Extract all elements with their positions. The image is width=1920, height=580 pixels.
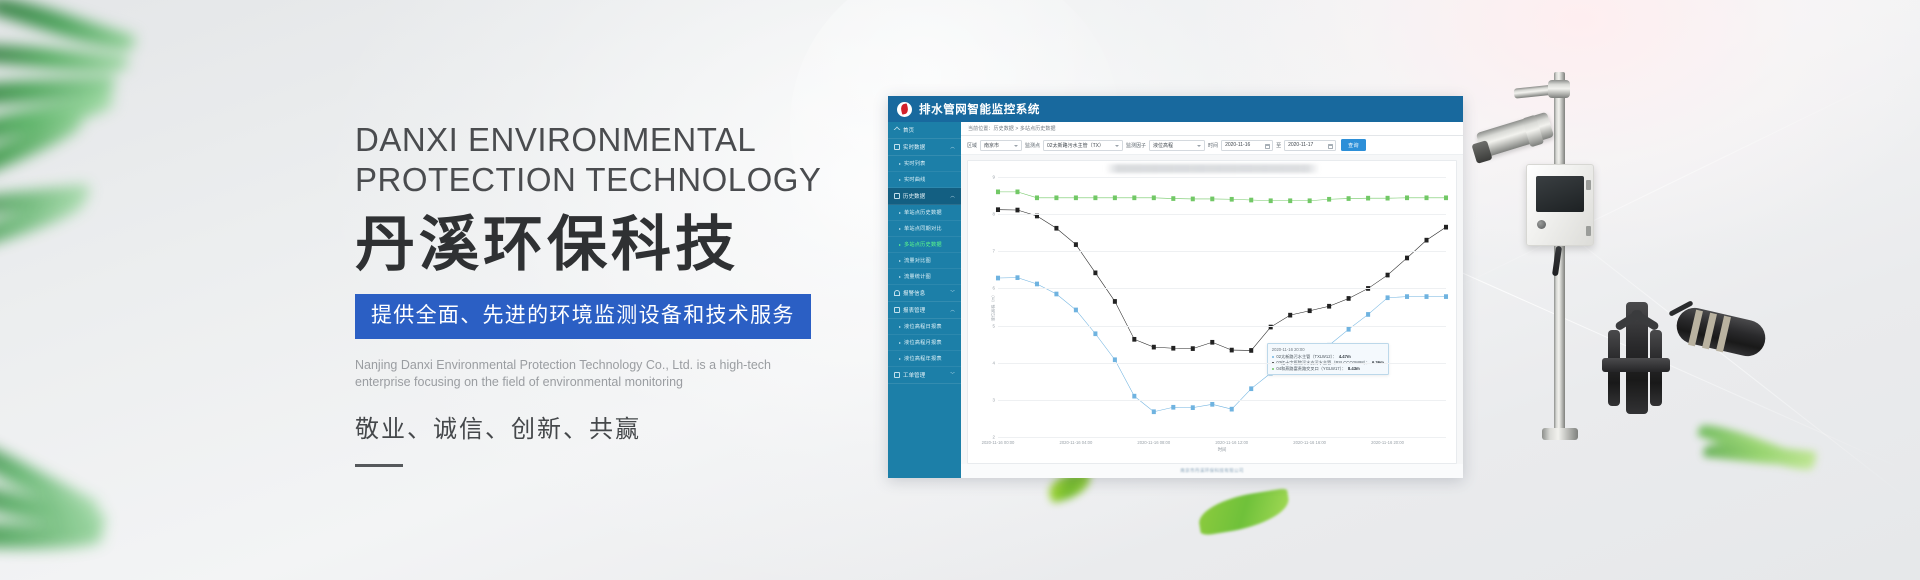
main-content: 当前位置：历史数据 > 多站点历史数据 区域 南京市 监测点 02太新路污水主管… xyxy=(961,122,1463,478)
chart-data-point xyxy=(1249,198,1253,203)
sidebar-item-realtime-list[interactable]: 实时列表 xyxy=(888,156,961,172)
chart-gridline xyxy=(998,400,1446,401)
app-body: 首页 实时数据 ︿ 实时列表 实时曲线 历史数据 xyxy=(888,122,1463,478)
chart-data-point xyxy=(1132,337,1136,342)
region-label: 区域 xyxy=(967,142,977,149)
chart-gridline xyxy=(998,288,1446,289)
chart-data-point xyxy=(1074,308,1078,313)
chevron-up-icon: ︿ xyxy=(950,307,955,313)
filter-toolbar: 区域 南京市 监测点 02太新路污水主管（TX） 监测因子 液位高程 时间 20… xyxy=(961,136,1463,155)
chart-data-point xyxy=(1113,195,1117,200)
sidebar-item-label: 多站点历史数据 xyxy=(904,241,942,248)
chart-data-point xyxy=(1171,346,1175,351)
chart-data-point xyxy=(1210,197,1214,202)
decor-leaf-cluster xyxy=(0,180,170,380)
chart-data-point xyxy=(996,207,1000,212)
chart-data-point xyxy=(1015,275,1019,280)
chart-gridline xyxy=(998,437,1446,438)
chart-data-point xyxy=(1327,197,1331,202)
chart-data-point xyxy=(1191,405,1195,410)
date-end-input[interactable]: 2020-11-17 xyxy=(1284,140,1336,151)
date-end-value: 2020-11-17 xyxy=(1288,142,1313,148)
chevron-up-icon: ︿ xyxy=(950,193,955,199)
chart-series-line xyxy=(998,192,1446,201)
sidebar-item-label: 液位高程月报表 xyxy=(904,339,942,346)
chart-data-point xyxy=(1152,345,1156,350)
chart-y-tick: 4 xyxy=(993,360,995,365)
chart-card: 液位高程（m） 时间 2020-11-16 20:00 02太新路污水主管（TX… xyxy=(967,160,1457,464)
series-color-dot xyxy=(1272,368,1275,371)
query-button[interactable]: 查询 xyxy=(1341,139,1366,151)
chart-data-point xyxy=(1074,242,1078,247)
chart-data-point xyxy=(1171,196,1175,201)
chart-gridline xyxy=(998,214,1446,215)
chart-data-point xyxy=(1152,409,1156,414)
chart-data-point xyxy=(1366,196,1370,201)
sidebar-item-label: 实时曲线 xyxy=(904,176,926,183)
chart-y-tick: 3 xyxy=(993,397,995,402)
chart-data-point xyxy=(1015,190,1019,195)
sidebar-item-work-order[interactable]: 工单管理 ﹀ xyxy=(888,367,961,384)
app-footer: 南京市丹溪环保科技有限公司 xyxy=(961,464,1463,478)
chart-data-point xyxy=(1035,195,1039,200)
chart-data-point xyxy=(1366,312,1370,317)
sidebar-item-label: 实时列表 xyxy=(904,160,926,167)
hero-chinese-title: 丹溪环保科技 xyxy=(355,210,875,280)
tooltip-row: 04和燕路富贵路交叉口（YGLW17）： 8.43m xyxy=(1272,366,1384,372)
sidebar-item-report-management[interactable]: 报表管理 ︿ xyxy=(888,302,961,319)
chart-data-point xyxy=(1093,270,1097,275)
chart-data-point xyxy=(1113,357,1117,362)
chart-data-point xyxy=(1191,346,1195,351)
hero-banner: DANXI ENVIRONMENTAL PROTECTION TECHNOLOG… xyxy=(0,0,1920,580)
flow-sensor-collar-icon xyxy=(1602,358,1670,372)
arm-clamp-icon xyxy=(1548,80,1570,98)
breadcrumb: 当前位置：历史数据 > 多站点历史数据 xyxy=(961,122,1463,136)
sidebar-nav: 首页 实时数据 ︿ 实时列表 实时曲线 历史数据 xyxy=(888,122,961,478)
caret-right-icon xyxy=(899,228,901,230)
sidebar-item-single-station-history[interactable]: 单站点历史数据 xyxy=(888,205,961,221)
calendar-icon xyxy=(1265,144,1270,149)
caret-right-icon xyxy=(899,244,901,246)
realtime-icon xyxy=(894,144,900,150)
sidebar-item-label: 报警信息 xyxy=(903,289,925,297)
sidebar-item-multi-station-history[interactable]: 多站点历史数据 xyxy=(888,237,961,253)
sidebar-item-label: 液位高程日报表 xyxy=(904,323,942,330)
chart-data-point xyxy=(1230,197,1234,202)
chart-data-point xyxy=(1210,340,1214,345)
pole-base-icon xyxy=(1542,428,1578,440)
chart-data-point xyxy=(1093,195,1097,200)
app-title: 排水管网智能监控系统 xyxy=(919,101,1040,117)
chart-data-point xyxy=(1444,294,1448,299)
chart-data-point xyxy=(1347,327,1351,332)
calendar-icon xyxy=(1328,144,1333,149)
chart-x-tick: 2020-11-16 20:00 xyxy=(1371,440,1404,445)
chart-gridline xyxy=(998,251,1446,252)
chart-data-point xyxy=(1054,195,1058,200)
chart-y-tick: 7 xyxy=(993,249,995,254)
equipment-illustration xyxy=(1480,30,1920,490)
factor-select[interactable]: 液位高程 xyxy=(1149,140,1205,151)
chart-data-point xyxy=(1249,348,1253,353)
chart-y-tick: 8 xyxy=(993,212,995,217)
sidebar-item-label: 报表管理 xyxy=(903,306,925,314)
chart-data-point xyxy=(1327,304,1331,309)
sidebar-item-label: 液位高程年报表 xyxy=(904,355,942,362)
chart-data-point xyxy=(1191,197,1195,202)
report-icon xyxy=(894,307,900,313)
cabinet-knob-icon xyxy=(1537,220,1546,229)
chart-data-point xyxy=(1132,394,1136,399)
tooltip-time: 2020-11-16 20:00 xyxy=(1272,347,1384,353)
chart-data-point xyxy=(1210,402,1214,407)
chart-y-axis-label: 液位高程（m） xyxy=(990,293,996,322)
date-start-value: 2020-11-16 xyxy=(1225,142,1250,148)
chart-data-point xyxy=(1424,195,1428,200)
chart-data-point xyxy=(1347,296,1351,301)
chart-data-point xyxy=(1249,386,1253,391)
chart-data-point xyxy=(1230,407,1234,412)
date-start-input[interactable]: 2020-11-16 xyxy=(1221,140,1273,151)
region-select[interactable]: 南京市 xyxy=(980,140,1022,151)
monitoring-system-window: 排水管网智能监控系统 首页 实时数据 ︿ 实时列表 xyxy=(888,96,1463,478)
bell-icon xyxy=(894,290,900,296)
app-titlebar: 排水管网智能监控系统 xyxy=(888,96,1463,122)
chart-data-point xyxy=(1269,198,1273,203)
cabinet-latch-icon xyxy=(1586,226,1591,236)
hero-divider xyxy=(355,464,403,467)
sidebar-item-label: 单站点同期对比 xyxy=(904,225,942,232)
chart-data-point xyxy=(1132,195,1136,200)
chart-data-point xyxy=(1444,225,1448,230)
chart-data-point xyxy=(1035,282,1039,287)
chart-data-point xyxy=(1405,294,1409,299)
hero-copy: DANXI ENVIRONMENTAL PROTECTION TECHNOLOG… xyxy=(355,120,875,467)
sidebar-item-label: 流量对比图 xyxy=(904,257,931,264)
chart-data-point xyxy=(1347,196,1351,201)
chart-data-point xyxy=(1152,195,1156,200)
chart-x-tick: 2020-11-16 08:00 xyxy=(1137,440,1170,445)
chart-y-tick: 2 xyxy=(993,435,995,440)
chevron-up-icon: ︿ xyxy=(950,144,955,150)
hero-english-title: DANXI ENVIRONMENTAL PROTECTION TECHNOLOG… xyxy=(355,120,875,200)
station-label: 监测点 xyxy=(1025,142,1040,149)
sidebar-item-realtime-curve[interactable]: 实时曲线 xyxy=(888,172,961,188)
caret-right-icon xyxy=(899,276,901,278)
decor-leaf-cluster xyxy=(0,0,250,240)
chevron-down-icon: ﹀ xyxy=(950,290,955,296)
chart-tooltip: 2020-11-16 20:00 02太新路污水主管（TXLW12）： 4.47… xyxy=(1267,343,1389,375)
sidebar-item-label: 流量统计图 xyxy=(904,273,931,280)
chart-data-point xyxy=(1386,273,1390,278)
sidebar-item-level-daily-report[interactable]: 液位高程日报表 xyxy=(888,319,961,335)
sidebar-item-label: 首页 xyxy=(903,126,914,134)
chart-data-point xyxy=(1386,196,1390,201)
chart-data-point xyxy=(1054,292,1058,297)
chart-gridline xyxy=(998,326,1446,327)
caret-right-icon xyxy=(899,358,901,360)
chart-data-point xyxy=(1230,348,1234,353)
chart-data-point xyxy=(1405,195,1409,200)
chart-icon xyxy=(894,193,900,199)
chart-x-axis-label: 时间 xyxy=(1218,447,1227,453)
caret-right-icon xyxy=(899,326,901,328)
chevron-down-icon: ﹀ xyxy=(950,372,955,378)
chart-data-point xyxy=(1015,208,1019,213)
sidebar-item-alarm-info[interactable]: 报警信息 ﹀ xyxy=(888,285,961,302)
chart-y-tick: 9 xyxy=(993,175,995,180)
time-label: 时间 xyxy=(1208,142,1218,149)
chart-y-tick: 6 xyxy=(993,286,995,291)
caret-right-icon xyxy=(899,342,901,344)
caret-right-icon xyxy=(899,179,901,181)
sidebar-item-home[interactable]: 首页 xyxy=(888,122,961,139)
date-separator: 至 xyxy=(1276,142,1281,149)
chart-title-blurred xyxy=(1105,164,1320,173)
chart-data-point xyxy=(1074,195,1078,200)
chart-data-point xyxy=(1093,331,1097,336)
sidebar-item-single-station-compare[interactable]: 单站点同期对比 xyxy=(888,221,961,237)
chart-data-point xyxy=(1054,226,1058,231)
chart-data-point xyxy=(1308,198,1312,203)
chart-data-point xyxy=(1171,405,1175,410)
chart-data-point xyxy=(1405,256,1409,261)
chart-data-point xyxy=(1424,294,1428,299)
chart-x-tick: 2020-11-16 12:00 xyxy=(1215,440,1248,445)
caret-right-icon xyxy=(899,260,901,262)
chart-gridline xyxy=(998,363,1446,364)
sidebar-item-label: 单站点历史数据 xyxy=(904,209,942,216)
chart-data-point xyxy=(1386,295,1390,300)
chart-data-point xyxy=(1288,313,1292,318)
app-logo-icon xyxy=(897,102,912,117)
sidebar-item-history-data[interactable]: 历史数据 ︿ xyxy=(888,188,961,205)
ticket-icon xyxy=(894,372,900,378)
chart-data-point xyxy=(1288,198,1292,203)
chart-data-point xyxy=(1113,299,1117,304)
chart-data-point xyxy=(1424,238,1428,243)
chart-series-svg xyxy=(998,177,1446,437)
chart-x-tick: 2020-11-16 04:00 xyxy=(1060,440,1093,445)
tooltip-series-name: 04和燕路富贵路交叉口（YGLW17）： xyxy=(1276,366,1346,372)
sidebar-item-label: 实时数据 xyxy=(903,143,925,151)
caret-right-icon xyxy=(899,163,901,165)
chart-data-point xyxy=(1444,195,1448,200)
sidebar-item-flow-statistics-chart[interactable]: 流量统计图 xyxy=(888,269,961,285)
sidebar-item-realtime-data[interactable]: 实时数据 ︿ xyxy=(888,139,961,156)
chart-x-tick: 2020-11-16 00:00 xyxy=(982,440,1015,445)
cabinet-display-icon xyxy=(1536,176,1584,212)
chart-data-point xyxy=(996,190,1000,195)
chart-series-line xyxy=(998,210,1446,351)
footer-company-name: 南京市丹溪环保科技有限公司 xyxy=(1180,468,1244,474)
cabinet-latch-icon xyxy=(1586,180,1591,190)
home-icon xyxy=(894,127,901,134)
chart-x-tick: 2020-11-16 16:00 xyxy=(1293,440,1326,445)
chart-data-point xyxy=(1308,308,1312,313)
sidebar-item-label: 历史数据 xyxy=(903,192,925,200)
station-select[interactable]: 02太新路污水主管（TX） xyxy=(1043,140,1123,151)
sidebar-item-level-yearly-report[interactable]: 液位高程年报表 xyxy=(888,351,961,367)
factor-label: 监测因子 xyxy=(1126,142,1146,149)
tooltip-series-value: 8.43m xyxy=(1348,366,1360,372)
hero-motto: 敬业、诚信、创新、共赢 xyxy=(355,409,875,444)
hero-english-description: Nanjing Danxi Environmental Protection T… xyxy=(355,357,825,391)
hero-tagline: 提供全面、先进的环境监测设备和技术服务 xyxy=(355,294,811,339)
decor-leaf-small xyxy=(1198,495,1290,529)
chart-y-tick: 5 xyxy=(993,323,995,328)
line-chart-plot: 液位高程（m） 时间 2020-11-16 20:00 02太新路污水主管（TX… xyxy=(998,177,1446,437)
series-color-dot xyxy=(1272,356,1275,359)
decor-leaf-cluster xyxy=(0,400,230,580)
chart-gridline xyxy=(998,177,1446,178)
sidebar-item-flow-compare-chart[interactable]: 流量对比图 xyxy=(888,253,961,269)
caret-right-icon xyxy=(899,212,901,214)
sidebar-item-level-monthly-report[interactable]: 液位高程月报表 xyxy=(888,335,961,351)
chart-data-point xyxy=(996,276,1000,281)
sidebar-item-label: 工单管理 xyxy=(903,371,925,379)
